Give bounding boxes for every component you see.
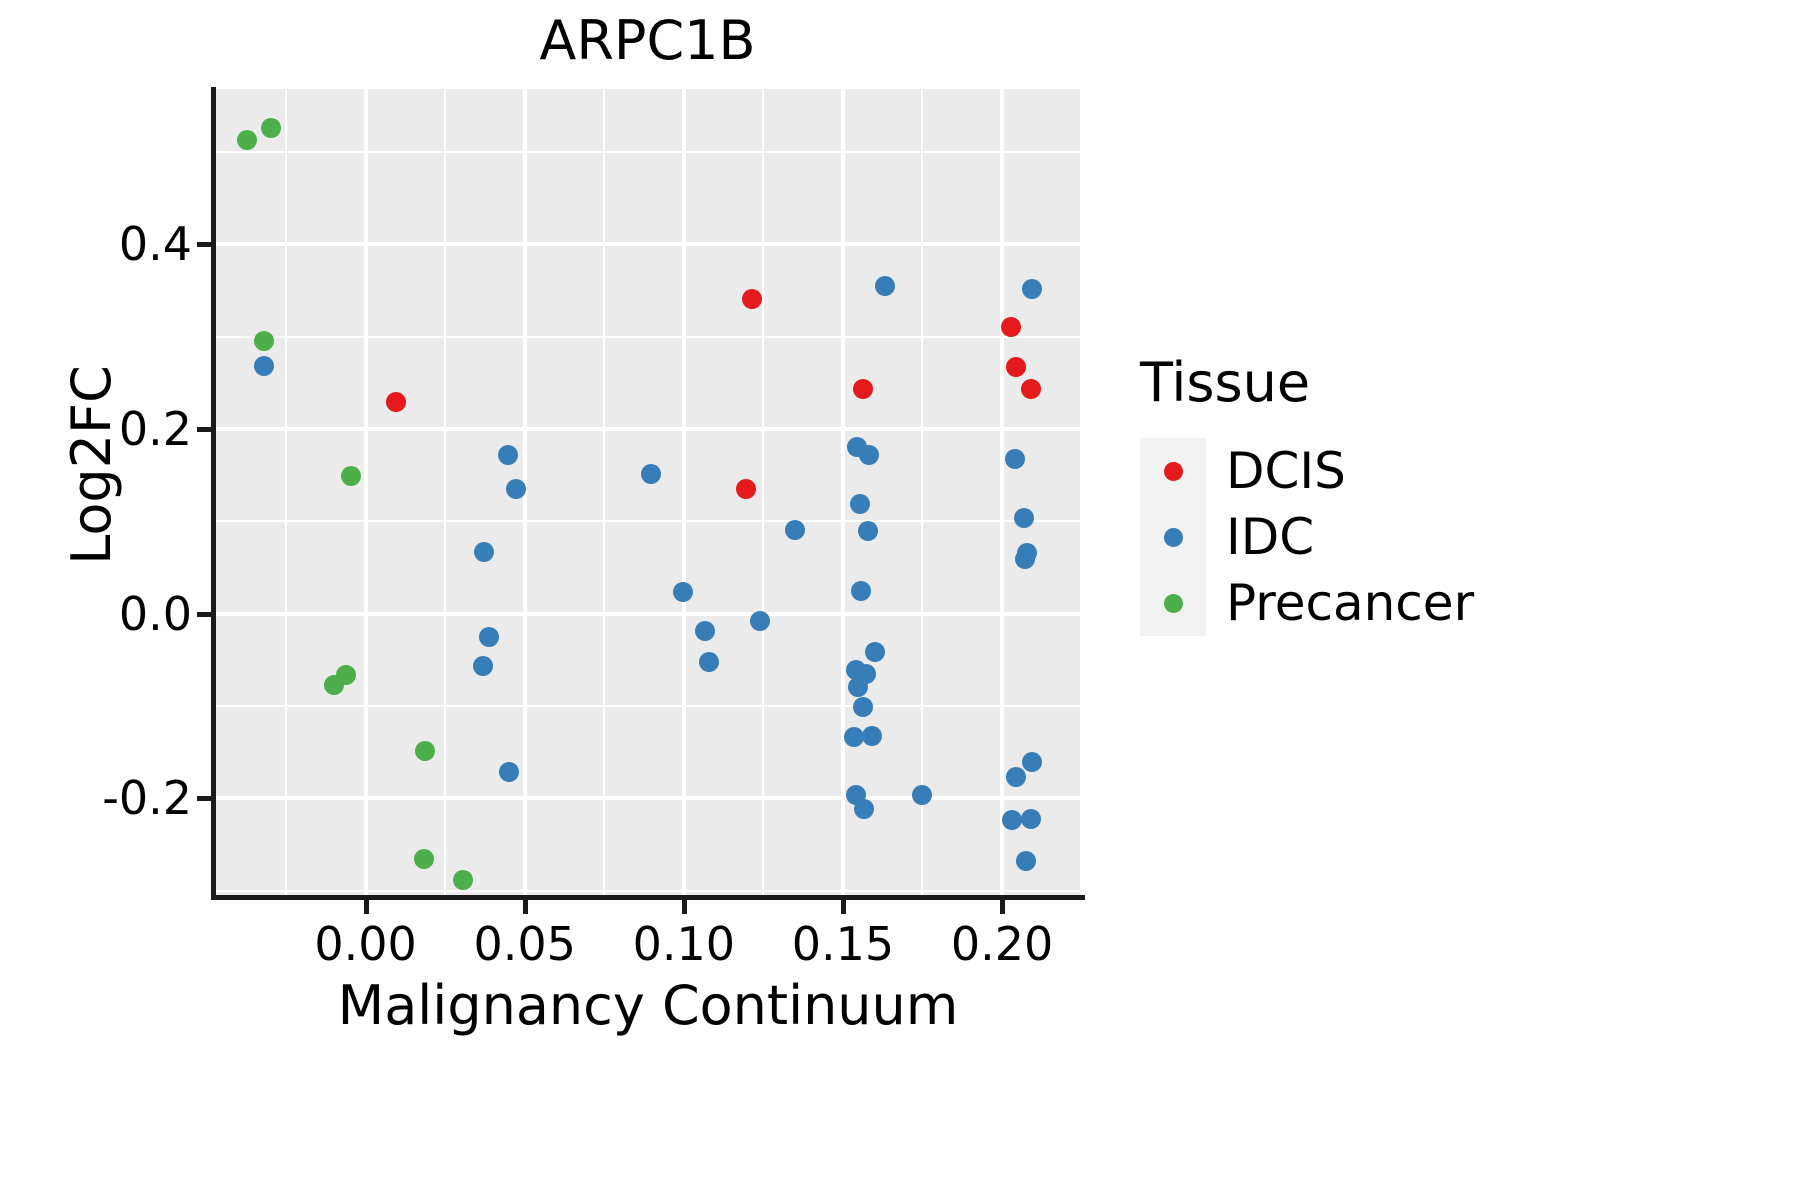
- data-point: [498, 445, 518, 465]
- data-point: [1002, 810, 1022, 830]
- gridline: [216, 612, 1080, 616]
- legend: Tissue DCISIDCPrecancer: [1140, 350, 1590, 636]
- data-point: [785, 520, 805, 540]
- data-point: [414, 849, 434, 869]
- gridline: [682, 89, 686, 898]
- y-axis-tick: [197, 427, 211, 432]
- gridline: [216, 890, 1080, 892]
- data-point: [853, 697, 873, 717]
- y-axis-tick-label: 0.0: [119, 591, 192, 637]
- data-point: [875, 276, 895, 296]
- data-point: [499, 762, 519, 782]
- y-axis-tick-label: -0.2: [102, 775, 192, 821]
- y-axis-title: Log2FC: [62, 255, 122, 675]
- legend-key-swatch: [1140, 504, 1206, 570]
- data-point: [853, 379, 873, 399]
- data-point: [699, 652, 719, 672]
- data-point: [1016, 851, 1036, 871]
- x-axis-tick-label: 0.00: [314, 918, 416, 970]
- gridline: [216, 796, 1080, 800]
- data-point: [415, 741, 435, 761]
- legend-key-swatch: [1140, 438, 1206, 504]
- data-point: [736, 479, 756, 499]
- gridline: [216, 427, 1080, 431]
- data-point: [848, 677, 868, 697]
- legend-key-swatch: [1140, 570, 1206, 636]
- gridline: [921, 89, 923, 898]
- data-point: [1014, 508, 1034, 528]
- data-point: [336, 665, 356, 685]
- x-axis-tick: [1000, 900, 1005, 914]
- data-point: [851, 581, 871, 601]
- x-axis-line: [211, 895, 1085, 900]
- y-axis-tick: [197, 612, 211, 617]
- data-point: [1006, 357, 1026, 377]
- x-axis-tick-label: 0.20: [951, 918, 1053, 970]
- x-axis-tick: [682, 900, 687, 914]
- data-point: [453, 870, 473, 890]
- data-point: [506, 479, 526, 499]
- x-axis-tick: [523, 900, 528, 914]
- data-point: [254, 331, 274, 351]
- data-point: [850, 494, 870, 514]
- data-point: [1022, 752, 1042, 772]
- gridline: [841, 89, 845, 898]
- data-point: [1005, 449, 1025, 469]
- gridline: [444, 89, 446, 898]
- gridline: [364, 89, 368, 898]
- data-point: [750, 611, 770, 631]
- gridline: [1000, 89, 1004, 898]
- data-point: [912, 785, 932, 805]
- y-axis-tick: [197, 242, 211, 247]
- data-point: [261, 118, 281, 138]
- legend-dot-icon: [1164, 594, 1183, 613]
- data-point: [341, 466, 361, 486]
- gridline: [216, 705, 1080, 707]
- data-point: [473, 656, 493, 676]
- x-axis-title: Malignancy Continuum: [216, 975, 1080, 1037]
- legend-item-dcis[interactable]: DCIS: [1140, 438, 1590, 504]
- y-axis-tick-label: 0.4: [119, 221, 192, 267]
- data-point: [844, 727, 864, 747]
- legend-item-label: DCIS: [1226, 442, 1346, 500]
- page-title: ARPC1B: [215, 6, 1080, 76]
- gridline: [762, 89, 764, 898]
- y-axis-line: [211, 87, 216, 900]
- data-point: [1022, 279, 1042, 299]
- data-point: [858, 521, 878, 541]
- x-axis-tick: [364, 900, 369, 914]
- data-point: [386, 392, 406, 412]
- x-axis-tick-label: 0.15: [792, 918, 894, 970]
- data-point: [742, 289, 762, 309]
- data-point: [1001, 317, 1021, 337]
- legend-entries: DCISIDCPrecancer: [1140, 438, 1590, 636]
- legend-item-label: Precancer: [1226, 574, 1474, 632]
- y-axis-tick-label: 0.2: [119, 406, 192, 452]
- data-point: [1021, 809, 1041, 829]
- x-axis-tick: [841, 900, 846, 914]
- gridline: [603, 89, 605, 898]
- legend-dot-icon: [1164, 528, 1183, 547]
- legend-item-label: IDC: [1226, 508, 1314, 566]
- gridline: [216, 242, 1080, 246]
- plot-panel: [216, 89, 1080, 898]
- data-point: [673, 582, 693, 602]
- data-point: [641, 464, 661, 484]
- data-point: [237, 130, 257, 150]
- legend-dot-icon: [1164, 462, 1183, 481]
- legend-item-precancer[interactable]: Precancer: [1140, 570, 1590, 636]
- gridline: [216, 151, 1080, 153]
- data-point: [254, 356, 274, 376]
- gridline: [285, 89, 287, 898]
- data-point: [1006, 767, 1026, 787]
- data-point: [859, 445, 879, 465]
- data-point: [1017, 543, 1037, 563]
- data-point: [854, 799, 874, 819]
- x-axis-tick-label: 0.10: [633, 918, 735, 970]
- data-point: [865, 642, 885, 662]
- gridline: [216, 336, 1080, 338]
- x-axis-tick-label: 0.05: [473, 918, 575, 970]
- legend-item-idc[interactable]: IDC: [1140, 504, 1590, 570]
- scatter-plot-figure: ARPC1B Log2FC Malignancy Continuum Tissu…: [0, 0, 1800, 1200]
- gridline: [216, 520, 1080, 522]
- legend-title: Tissue: [1140, 350, 1590, 416]
- data-point: [862, 726, 882, 746]
- data-point: [474, 542, 494, 562]
- data-point: [1021, 379, 1041, 399]
- data-point: [479, 627, 499, 647]
- y-axis-tick: [197, 796, 211, 801]
- data-point: [695, 621, 715, 641]
